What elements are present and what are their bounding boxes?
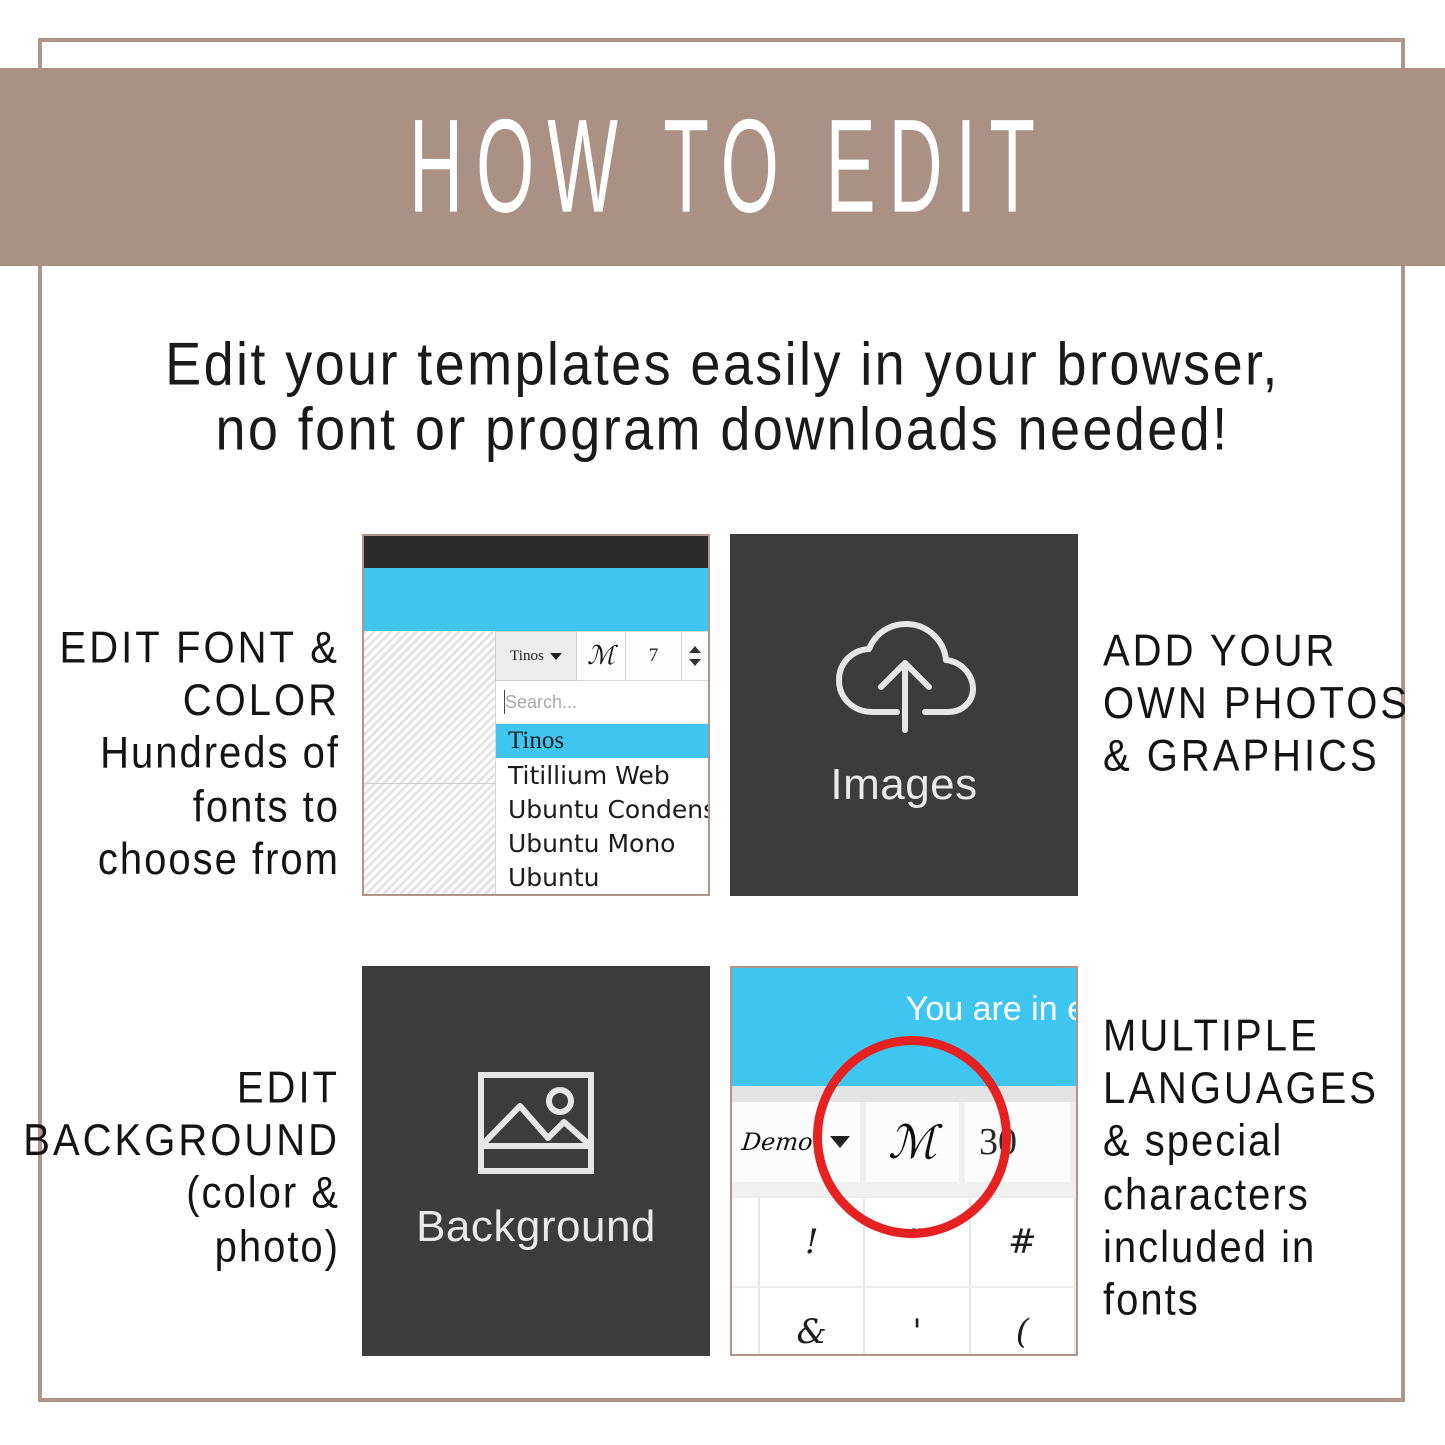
picture-icon: [476, 1070, 596, 1176]
caption-multiple-languages: MULTIPLE LANGUAGES & special characters …: [1103, 1010, 1433, 1327]
editor-titlebar: [364, 536, 708, 568]
caption-line: included in: [1103, 1221, 1433, 1274]
caption-line: & GRAPHICS: [1103, 731, 1433, 784]
font-option-ubuntu[interactable]: Ubuntu: [496, 860, 710, 894]
font-option-titillium-web[interactable]: Titillium Web: [496, 758, 710, 792]
cloud-upload-icon: [829, 620, 979, 738]
font-size-value: 7: [649, 645, 659, 667]
screenshot-font-picker: Tinos ℳ 7 Search... Tinos Titillium Web …: [362, 534, 710, 896]
font-size-input[interactable]: 7: [626, 631, 682, 681]
charmap-banner-text: You are in e: [906, 990, 1078, 1029]
font-search-placeholder: Search...: [505, 692, 577, 713]
caption-line: EDIT: [10, 1062, 340, 1115]
font-option-label: Ubuntu: [508, 863, 600, 892]
header-banner: HOW TO EDIT: [0, 68, 1445, 266]
font-family-value: Tinos: [510, 648, 544, 665]
text-cursor: [504, 690, 505, 714]
stepper-down-icon[interactable]: [689, 659, 701, 666]
font-option-tinos[interactable]: Tinos: [496, 724, 710, 758]
font-toolbar: Tinos ℳ 7: [495, 631, 710, 681]
editor-accent-bar: [364, 568, 708, 631]
font-size-stepper[interactable]: [682, 631, 709, 681]
font-search-input[interactable]: Search...: [496, 681, 710, 724]
caption-line: COLOR: [20, 675, 340, 728]
charmap-glyph-cell[interactable]: [732, 1198, 760, 1286]
font-option-label: Titillium Web: [508, 761, 670, 790]
caption-line: ADD YOUR: [1103, 625, 1433, 678]
caption-line: BACKGROUND: [10, 1115, 340, 1168]
charmap-glyph-cell[interactable]: (: [971, 1288, 1076, 1356]
background-tool-label: Background: [416, 1202, 656, 1252]
color-swatch[interactable]: [709, 631, 710, 681]
caption-line: OWN PHOTOS: [1103, 678, 1433, 731]
font-option-ubuntu-condensed[interactable]: Ubuntu Condensed: [496, 792, 710, 826]
font-option-label: Ubuntu Condensed: [508, 795, 710, 824]
subtitle-line-1: Edit your templates easily in your brows…: [0, 332, 1445, 397]
caption-line: MULTIPLE: [1103, 1010, 1433, 1063]
screenshot-background-tool[interactable]: Background: [362, 966, 710, 1356]
script-font-button[interactable]: ℳ: [577, 631, 626, 681]
caption-line: fonts: [1103, 1274, 1433, 1327]
charmap-font-value: Demo: [740, 1128, 814, 1156]
font-option-label: Ubuntu Mono: [508, 829, 675, 858]
page-title: HOW TO EDIT: [397, 91, 1048, 243]
font-dropdown-menu: Search... Tinos Titillium Web Ubuntu Con…: [495, 681, 710, 896]
caption-add-photos: ADD YOUR OWN PHOTOS & GRAPHICS: [1103, 625, 1433, 784]
caption-line: & special: [1103, 1116, 1433, 1169]
chevron-down-icon: [550, 653, 562, 660]
caption-line: Hundreds of: [20, 728, 340, 781]
charmap-glyph-cell[interactable]: #: [971, 1198, 1076, 1286]
charmap-glyph-cell[interactable]: [732, 1288, 760, 1356]
charmap-grid-row: & ' (: [732, 1286, 1076, 1356]
font-option-label: Tinos: [508, 727, 564, 755]
caption-line: (color &: [10, 1168, 340, 1221]
screenshot-images-tool[interactable]: Images: [730, 534, 1078, 896]
red-circle-annotation: [813, 1036, 1011, 1238]
images-tool-label: Images: [830, 760, 977, 810]
caption-line: fonts to: [20, 781, 340, 834]
caption-line: LANGUAGES: [1103, 1063, 1433, 1116]
caption-edit-font-color: EDIT FONT & COLOR Hundreds of fonts to c…: [20, 622, 340, 886]
script-a-icon: ℳ: [587, 641, 615, 671]
font-family-dropdown[interactable]: Tinos: [495, 631, 577, 681]
caption-line: EDIT FONT &: [20, 622, 340, 675]
charmap-glyph-cell[interactable]: &: [760, 1288, 865, 1356]
subtitle-line-2: no font or program downloads needed!: [0, 397, 1445, 462]
caption-line: characters: [1103, 1169, 1433, 1222]
font-option-ubuntu-mono[interactable]: Ubuntu Mono: [496, 826, 710, 860]
subtitle-block: Edit your templates easily in your brows…: [0, 332, 1445, 463]
charmap-glyph-cell[interactable]: ': [865, 1288, 970, 1356]
caption-line: photo): [10, 1221, 340, 1274]
stepper-up-icon[interactable]: [689, 646, 701, 653]
caption-line: choose from: [20, 833, 340, 886]
caption-edit-background: EDIT BACKGROUND (color & photo): [10, 1062, 340, 1273]
